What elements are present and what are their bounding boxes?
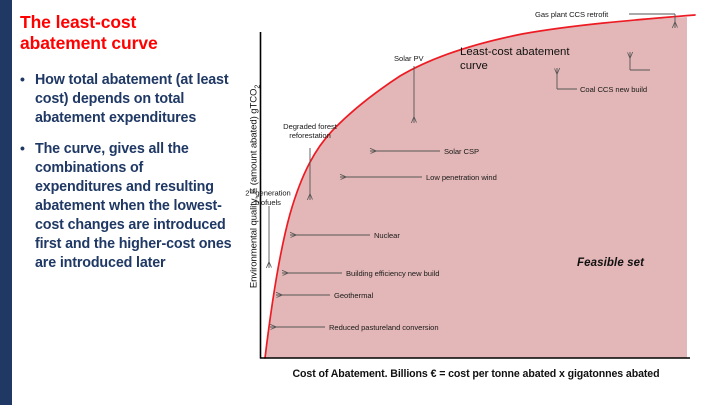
annotation-coal-ccs-new-build: Coal CCS new build <box>580 85 647 94</box>
annotation-solar-csp: Solar CSP <box>444 147 479 156</box>
chart-curve-title-line-1: Least-cost abatement <box>460 46 570 60</box>
annotation-degraded-forest-line-2: reforestation <box>254 131 366 140</box>
bullet-marker-icon: • <box>20 70 25 89</box>
chart-curve-title: Least-cost abatement curve <box>460 46 570 73</box>
annotation-geothermal: Geothermal <box>334 291 373 300</box>
annotation-reduced-pastureland-conversion: Reduced pastureland conversion <box>329 323 439 332</box>
annotation-2nd-generation-line-2: biofuels <box>230 198 306 207</box>
list-item-label: How total abatement (at least cost) depe… <box>35 72 228 126</box>
annotation-degraded-forest-reforestation: Degraded forest reforestation <box>254 122 366 141</box>
page-title-line-1: The least-cost <box>20 12 232 33</box>
accent-bar <box>0 0 12 405</box>
annotation-building-efficiency-new-build: Building efficiency new build <box>346 269 439 278</box>
list-item: • How total abatement (at least cost) de… <box>18 71 232 128</box>
x-axis-label: Cost of Abatement. Billions € = cost per… <box>232 368 720 380</box>
slide-text-column: The least-cost abatement curve • How tot… <box>18 8 232 388</box>
annotation-degraded-forest-line-1: Degraded forest <box>254 122 366 131</box>
chart-curve-title-line-2: curve <box>460 60 570 74</box>
annotation-2nd-generation-line-1: 2ndgeneration <box>230 188 306 198</box>
annotation-solar-pv: Solar PV <box>394 54 424 63</box>
abatement-curve-chart: Environmental quality, E (amount abated)… <box>232 0 720 405</box>
annotation-2nd-generation-biofuels: 2ndgeneration biofuels <box>230 188 306 208</box>
feasible-set-label: Feasible set <box>577 257 644 269</box>
bullet-list: • How total abatement (at least cost) de… <box>18 71 232 273</box>
bullet-marker-icon: • <box>20 139 25 158</box>
annotation-nuclear: Nuclear <box>374 231 400 240</box>
slide-canvas: The least-cost abatement curve • How tot… <box>0 0 720 405</box>
list-item-label: The curve, gives all the combinations of… <box>35 141 231 271</box>
y-axis-label: Environmental quality, E (amount abated)… <box>249 71 262 301</box>
page-title-line-2: abatement curve <box>20 33 232 54</box>
annotation-2nd-superscript: nd <box>249 188 255 194</box>
annotation-gas-plant-ccs-retrofit: Gas plant CCS retrofit <box>535 10 608 19</box>
annotation-low-penetration-wind: Low penetration wind <box>426 173 497 182</box>
list-item: • The curve, gives all the combinations … <box>18 140 232 273</box>
y-axis-label-subscript: 2 <box>254 85 261 89</box>
page-title: The least-cost abatement curve <box>20 12 232 55</box>
